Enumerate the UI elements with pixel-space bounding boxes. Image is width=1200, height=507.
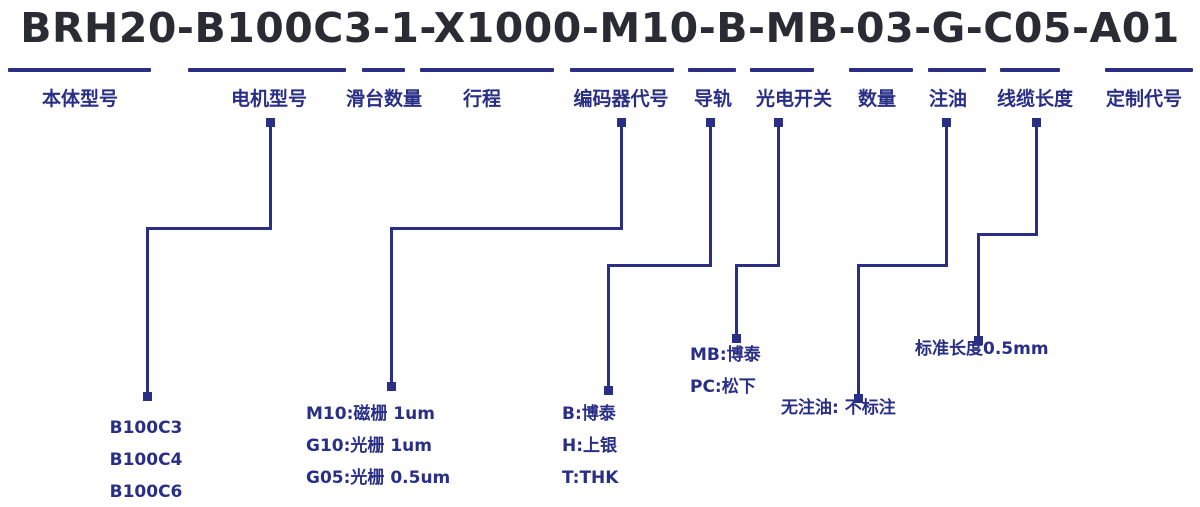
option-item: 无注油: 不标注: [781, 392, 896, 424]
leader-dot-body-model-end: [143, 392, 152, 401]
leader-line-cable-length-h: [977, 233, 1038, 236]
field-label-guide-rail: 导轨: [687, 84, 739, 111]
leader-line-oiling-v1: [945, 122, 948, 267]
option-item: B100C3: [88, 412, 204, 444]
options-photo-switch: MB:博泰 PC:松下: [690, 339, 761, 403]
field-label-stroke: 行程: [452, 84, 512, 111]
option-item: B:博泰: [562, 398, 618, 430]
leader-line-body-model-v2: [146, 227, 149, 396]
leader-line-body-model-v1: [269, 122, 272, 230]
option-item: B100C4: [88, 444, 204, 476]
leader-line-cable-length-v2: [977, 233, 980, 338]
field-label-slide-count: 滑台数量: [334, 84, 434, 111]
underline-segment-slide-count: [362, 68, 405, 72]
field-label-body-model: 本体型号: [30, 84, 130, 111]
option-item: T:THK: [562, 462, 618, 494]
option-item: B100C6: [88, 476, 204, 507]
underline-segment-cable-length: [1000, 68, 1060, 72]
option-item: 标准长度0.5mm: [915, 333, 1049, 365]
underline-segment-encoder-code: [570, 68, 674, 72]
leader-dot-guide-rail-end: [604, 386, 613, 395]
leader-line-photo-switch-h: [735, 264, 780, 267]
underline-segment-stroke: [420, 68, 554, 72]
options-oiling: 无注油: 不标注: [781, 392, 896, 424]
underline-segment-guide-rail: [688, 68, 736, 72]
option-item: PC:松下: [690, 371, 761, 403]
leader-line-encoder-v1: [620, 122, 623, 230]
leader-line-guide-rail-v1: [709, 122, 712, 267]
field-label-custom-code: 定制代号: [1094, 84, 1194, 111]
leader-line-oiling-v2: [857, 264, 860, 398]
leader-line-encoder-h: [390, 227, 623, 230]
underline-segment-custom-code: [1105, 68, 1193, 72]
field-label-cable-length: 线缆长度: [986, 84, 1084, 111]
leader-line-photo-switch-v1: [777, 122, 780, 267]
options-motor-model: M10:磁栅 1um G10:光栅 1um G05:光栅 0.5um: [306, 398, 450, 494]
underline-segment-motor-model: [188, 68, 346, 72]
field-label-oiling: 注油: [920, 84, 976, 111]
leader-dot-encoder-end: [387, 382, 396, 391]
underline-segment-photo-switch: [750, 68, 814, 72]
field-label-quantity: 数量: [849, 84, 905, 111]
underline-segment-body-model: [8, 68, 151, 72]
option-item: G10:光栅 1um: [306, 430, 450, 462]
leader-line-oiling-h: [857, 264, 948, 267]
field-label-photo-switch: 光电开关: [742, 84, 846, 111]
options-cable-length: 标准长度0.5mm: [915, 333, 1049, 365]
leader-line-encoder-v2: [390, 227, 393, 386]
options-guide-rail: B:博泰 H:上银 T:THK: [562, 398, 618, 494]
leader-line-cable-length-v1: [1035, 122, 1038, 236]
model-number-breakdown-diagram: BRH20-B100C3-1-X1000-M10-B-MB-03-G-C05-A…: [0, 0, 1200, 507]
leader-line-guide-rail-h: [607, 264, 712, 267]
option-item: M10:磁栅 1um: [306, 398, 450, 430]
underline-segment-oiling: [928, 68, 986, 72]
field-label-encoder-code: 编码器代号: [558, 84, 684, 111]
options-body-model: B100C3 B100C4 B100C6: [88, 412, 204, 507]
field-label-motor-model: 电机型号: [219, 84, 319, 111]
option-item: H:上银: [562, 430, 618, 462]
leader-line-body-model-h: [146, 227, 272, 230]
underline-segment-quantity: [849, 68, 913, 72]
leader-line-guide-rail-v2: [607, 264, 610, 390]
model-number-title: BRH20-B100C3-1-X1000-M10-B-MB-03-G-C05-A…: [0, 4, 1200, 52]
leader-line-photo-switch-v2: [735, 264, 738, 336]
option-item: MB:博泰: [690, 339, 761, 371]
option-item: G05:光栅 0.5um: [306, 462, 450, 494]
